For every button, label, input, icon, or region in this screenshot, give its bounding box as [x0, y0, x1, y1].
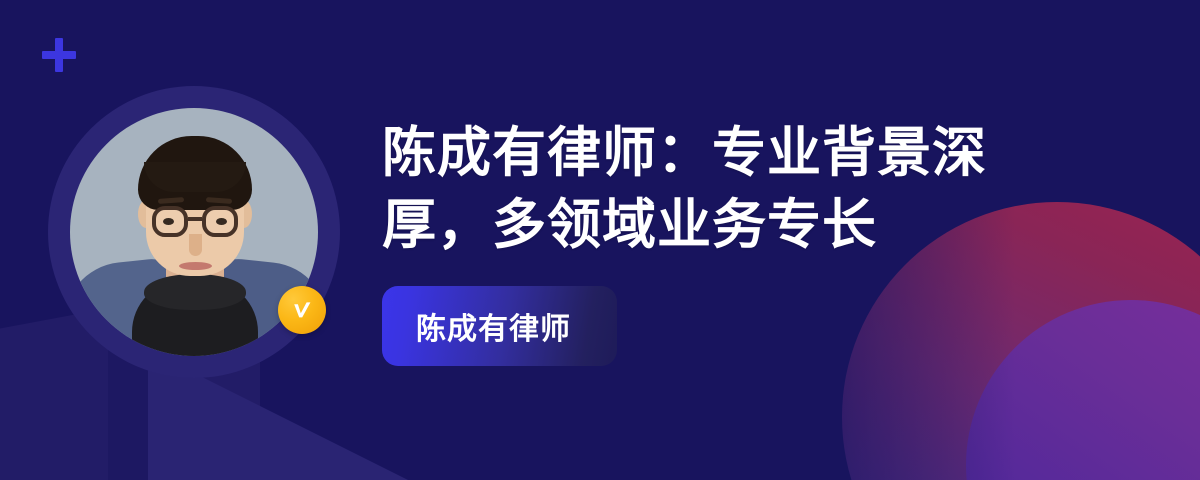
portrait-glasses-bridge: [188, 217, 202, 221]
lawyer-name-button[interactable]: 陈成有律师: [382, 286, 617, 366]
portrait-hair-fringe: [144, 162, 246, 192]
portrait-collar: [144, 274, 246, 310]
avatar: [48, 86, 340, 378]
portrait-glasses-left: [152, 206, 188, 237]
portrait-mouth: [179, 262, 212, 270]
portrait-glasses-right: [202, 206, 238, 237]
lawyer-profile-banner: 陈成有律师：专业背景深厚，多领域业务专长 陈成有律师: [0, 0, 1200, 480]
plus-icon: [42, 38, 76, 72]
page-title: 陈成有律师：专业背景深厚，多领域业务专长: [382, 118, 1002, 262]
portrait-nose: [189, 234, 202, 256]
verified-badge-icon: [278, 286, 326, 334]
content-column: 陈成有律师：专业背景深厚，多领域业务专长 陈成有律师: [382, 118, 1062, 366]
